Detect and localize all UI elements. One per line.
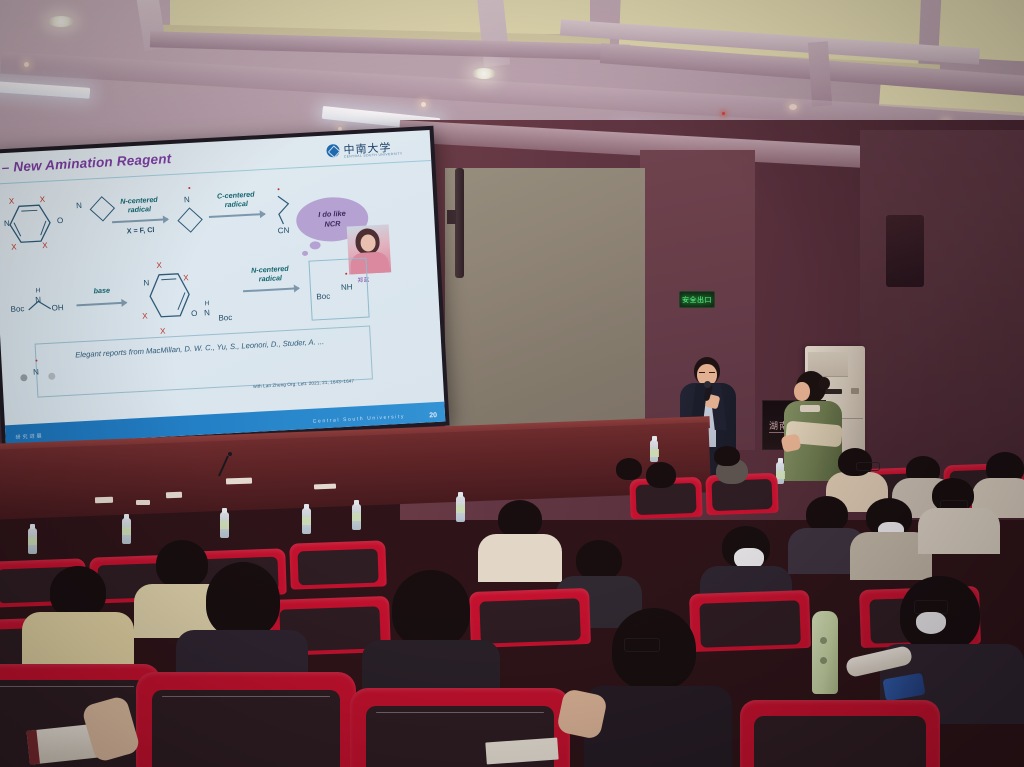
air-conditioner-button[interactable] [851,388,859,394]
exit-sign-label: 安全出口 [682,295,712,305]
water-bottle[interactable] [456,496,465,522]
seat-back-panel [699,600,800,647]
reaction-label-n-centered-2: N-centered radical [235,263,306,285]
bottle-cap [124,514,129,519]
auditorium-seat[interactable] [689,590,811,652]
audience-head [616,458,642,480]
table-papers [166,492,182,499]
seat-back-panel [754,716,926,767]
projection-screen: y IV – New Amination Reagent 中南大学 CENTRA… [0,126,450,450]
space-filling-atom [20,374,27,381]
atom-label-n: N [184,195,190,204]
table-papers [314,484,336,490]
audience-head [646,462,676,488]
bottle-cap [304,504,309,509]
reaction-arrow [209,213,265,218]
audience-head [50,566,106,618]
ceiling-downlight [48,16,74,27]
seat-back-panel [712,479,773,511]
water-bottle[interactable] [122,518,131,544]
audience-head [576,540,622,580]
table-papers [226,478,252,485]
seat-highlight [376,712,544,713]
radical-dot-icon [277,188,280,191]
atom-label-h: H [36,287,41,294]
reaction-arrow [76,302,126,306]
audience-shoulders [918,508,1000,554]
bottle-label [352,513,361,521]
microphone-head-icon [228,452,232,456]
speaker-eye [699,372,705,373]
product-nh-label: NH [341,282,353,292]
foreground-seat[interactable] [740,700,940,767]
audience-shoulders [584,686,732,767]
attendee-face [794,382,810,401]
bond-lines [26,298,57,314]
reaction-label-n-centered: N-centered radical [105,194,174,216]
nitrile-chain [274,191,298,226]
pyridine-ring [7,201,39,237]
atom-label-x: X [142,312,148,321]
atom-label-h: H [204,300,209,307]
ceiling-spot [789,104,797,110]
seat-highlight [162,696,330,697]
audience-shoulders [478,534,562,582]
bottle-label [122,527,131,535]
notebook-spine [26,730,39,765]
ceiling-indicator-light [722,112,725,115]
projection-screen-case-panel [445,168,645,438]
wall-right [860,130,1024,490]
water-bottle[interactable] [28,528,37,554]
bottle-label [220,521,229,529]
ceiling-spot [24,62,29,67]
water-bottle[interactable] [220,512,229,538]
atom-label-o: O [191,309,198,318]
atom-label-boc: Boc [218,313,232,323]
foreground-seat[interactable] [136,672,356,767]
audience-head [206,562,280,638]
atom-label-boc: Boc [10,304,24,314]
attendee-hair-bun [818,377,830,390]
auditorium-seat[interactable] [289,540,387,589]
thermos-dot [820,657,827,664]
slide-page-number: 20 [429,412,437,419]
bottle-cap [652,436,657,441]
reaction-label-base: base [78,285,126,297]
seat-back-panel [636,483,697,515]
attendee-collar [800,405,820,412]
atom-label-n: N [76,201,82,210]
audience-head [714,446,740,466]
atom-label-n: N [204,308,210,317]
thermos-dot [820,637,827,644]
reaction-arrow [112,218,168,223]
speaker-eye [709,372,715,373]
eyeglasses-icon [856,462,880,471]
audience-shoulders [22,612,134,672]
atom-label-o: O [57,216,64,225]
atom-label-n: N [33,367,39,376]
reaction-label-c-centered: C-centered radical [201,189,272,211]
eyeglasses-icon [624,638,660,652]
slide-footer-cn: 研究进展 [15,432,43,441]
thermos-flask[interactable] [812,611,838,694]
bottle-label [456,505,465,513]
auditorium-seat[interactable] [469,588,591,648]
thought-bubble-text: I do like NCR [318,209,347,230]
radical-dot-icon [188,187,191,190]
product-label-cn: CN [278,226,290,236]
table-papers [136,500,150,505]
atom-label-x: X [160,327,166,336]
microphone-head-icon [704,381,711,388]
bottle-label [776,471,785,479]
audience-head [806,496,848,532]
university-emblem-icon [326,143,340,157]
bottle-cap [354,500,359,505]
bottle-label [28,537,37,545]
reaction-arrow [243,287,299,292]
audience-head [498,500,542,538]
bottle-cap [778,458,783,463]
bottle-cap [458,492,463,497]
bottle-cap [30,524,35,529]
seat-back-panel [479,598,580,643]
seat-highlight [0,686,134,687]
seat-back-panel [298,549,379,586]
screen-roller-clip [447,210,456,224]
ceiling-light-tube [0,80,90,99]
cyclobutyl-ring [177,207,202,232]
lecture-hall-photo: 安全出口 湖南大学 y IV – New Amination Reagent 中… [0,0,1024,767]
pyridine-ring [147,270,179,306]
presentation-slide: y IV – New Amination Reagent 中南大学 CENTRA… [0,130,445,445]
bottle-label [302,517,311,525]
screen-roller-bar [455,168,464,278]
bottle-cap [222,508,227,513]
bottle-label [650,449,659,457]
seat-back-panel [152,690,340,767]
product-box [308,258,369,321]
slide-title: y IV – New Amination Reagent [0,151,172,177]
slide-footer-en: Central South University [313,414,406,425]
ceiling-downlight [472,68,496,79]
reaction-condition: X = F, Cl [106,224,174,237]
water-bottle[interactable] [352,504,361,530]
ceiling-spot [421,102,426,107]
exit-sign: 安全出口 [679,291,715,308]
audience-head [156,540,208,588]
water-bottle[interactable] [650,440,658,462]
audience-head [392,570,470,648]
product-boc-label: Boc [316,292,330,302]
face-mask [916,612,946,634]
wall-speaker [886,215,924,287]
atom-label-x: X [156,261,162,270]
water-bottle[interactable] [302,508,311,534]
table-papers [95,497,113,504]
